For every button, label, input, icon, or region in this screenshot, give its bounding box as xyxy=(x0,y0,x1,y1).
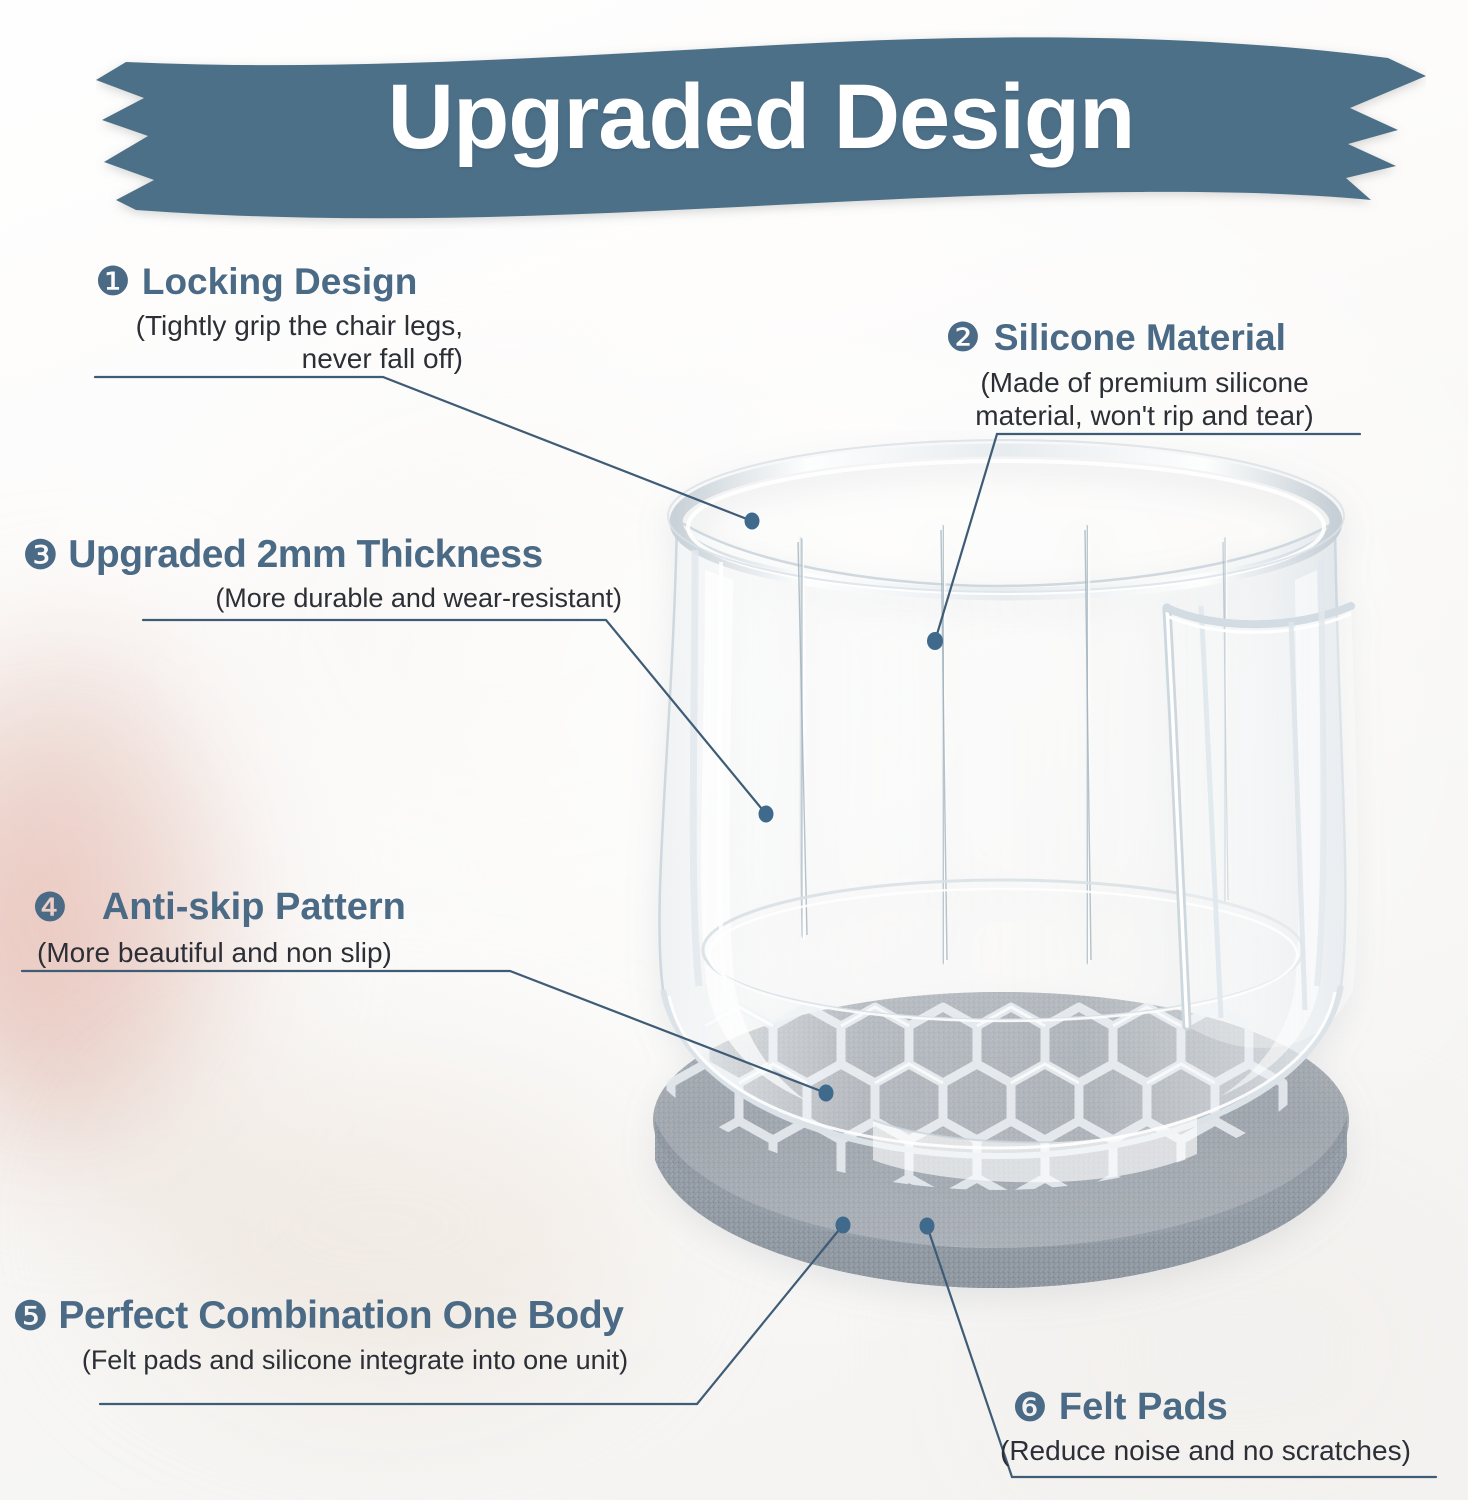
callout-6-number: ❻ xyxy=(1012,1388,1048,1428)
infographic-canvas: Upgraded Design xyxy=(0,0,1468,1500)
callout-3-number: ❸ xyxy=(22,535,58,576)
callout-2-subtitle: (Made of premium silicone material, won'… xyxy=(937,366,1352,432)
callout-4-number: ❹ xyxy=(32,888,68,928)
callout-silicone-material: ❷ Silicone Material (Made of premium sil… xyxy=(945,318,1352,432)
side-notch xyxy=(1167,606,1358,1048)
callout-4-heading: ❹ Anti-skip Pattern xyxy=(32,888,406,928)
callout-3-subtitle: (More durable and wear-resistant) xyxy=(22,583,622,615)
callout-4-subtitle: (More beautiful and non slip) xyxy=(37,936,406,969)
callout-locking-design: ❶ Locking Design (Tightly grip the chair… xyxy=(95,262,463,375)
callout-2-title: Silicone Material xyxy=(994,319,1286,358)
callout-1-subtitle: (Tightly grip the chair legs, never fall… xyxy=(95,309,463,375)
callout-5-heading: ❺ Perfect Combination One Body xyxy=(12,1296,700,1337)
callout-2-heading: ❷ Silicone Material xyxy=(945,318,1352,358)
callout-1-title: Locking Design xyxy=(142,263,417,302)
callout-3-title: Upgraded 2mm Thickness xyxy=(68,535,542,576)
product-image xyxy=(555,430,1455,1340)
callout-5-title: Perfect Combination One Body xyxy=(58,1296,623,1337)
callout-upgraded-thickness: ❸ Upgraded 2mm Thickness (More durable a… xyxy=(22,535,622,615)
callout-felt-pads: ❻ Felt Pads (Reduce noise and no scratch… xyxy=(1012,1388,1411,1467)
callout-5-subtitle: (Felt pads and silicone integrate into o… xyxy=(10,1345,700,1377)
callout-6-subtitle: (Reduce noise and no scratches) xyxy=(1000,1434,1411,1467)
callout-6-heading: ❻ Felt Pads xyxy=(1012,1388,1411,1428)
callout-1-number: ❶ xyxy=(95,262,131,302)
callout-6-title: Felt Pads xyxy=(1059,1388,1228,1428)
callout-perfect-combination: ❺ Perfect Combination One Body (Felt pad… xyxy=(12,1296,700,1377)
callout-3-heading: ❸ Upgraded 2mm Thickness xyxy=(22,535,622,576)
callout-4-title: Anti-skip Pattern xyxy=(102,888,406,928)
callout-2-number: ❷ xyxy=(945,318,981,358)
banner: Upgraded Design xyxy=(96,14,1426,229)
callout-1-heading: ❶ Locking Design xyxy=(95,262,463,302)
callout-anti-skip-pattern: ❹ Anti-skip Pattern (More beautiful and … xyxy=(32,888,406,969)
callout-5-number: ❺ xyxy=(12,1296,48,1337)
banner-title: Upgraded Design xyxy=(96,10,1426,225)
